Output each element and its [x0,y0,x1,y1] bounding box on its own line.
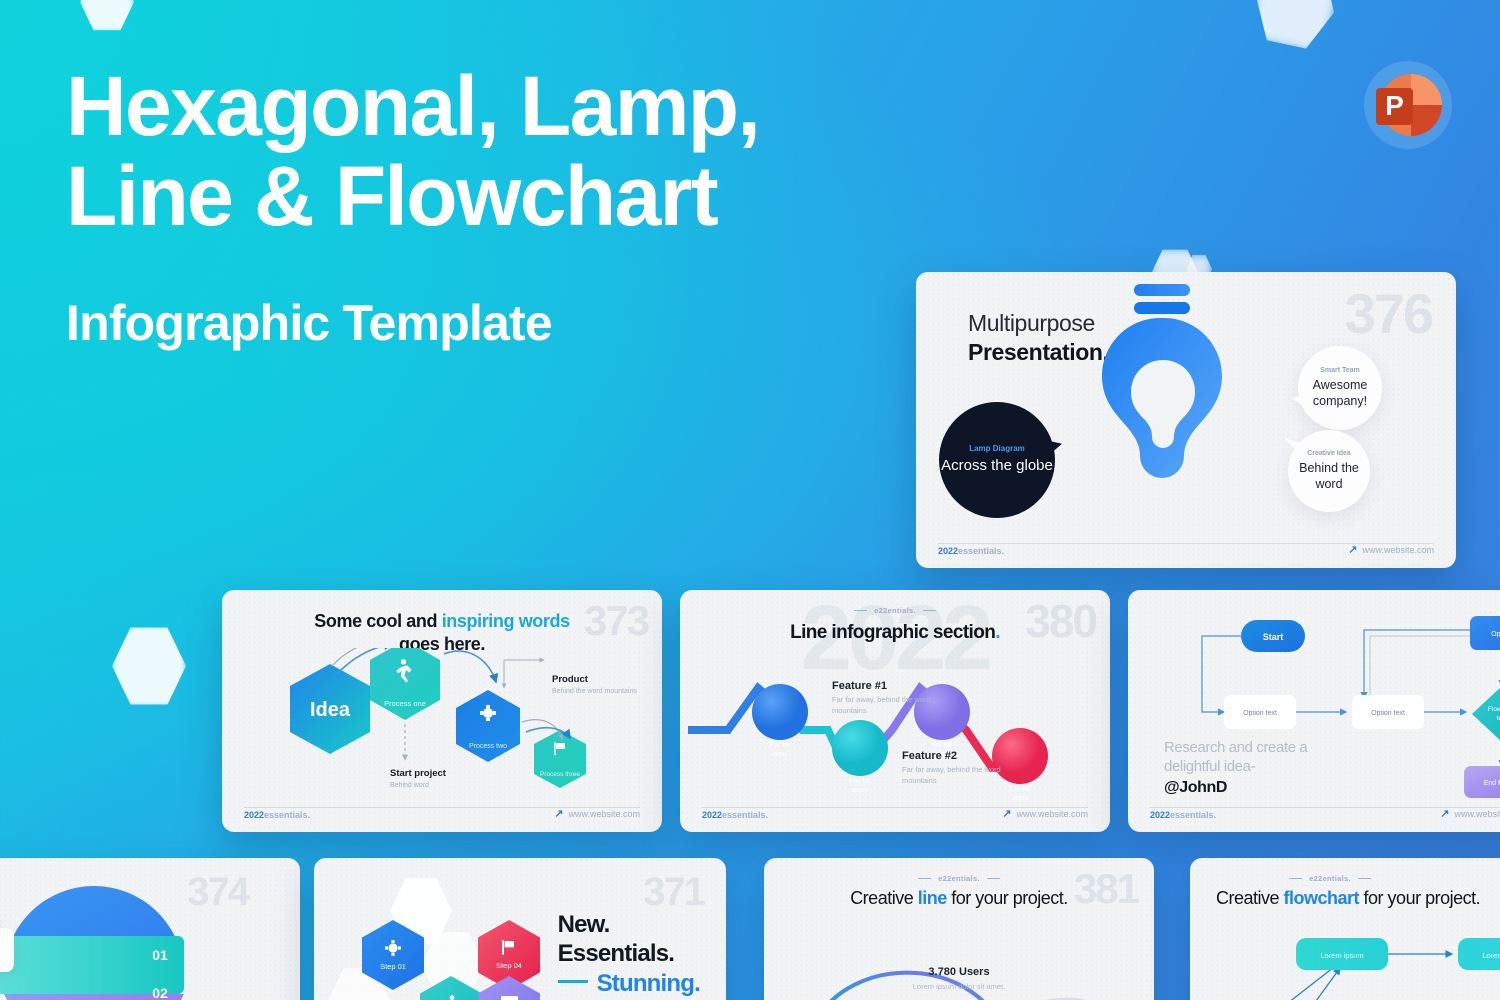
footer-year: 2022 [938,546,958,556]
slide-kicker: e22entials. [764,874,1154,883]
copy-rule [558,980,588,983]
slide-title: Creative line for your project. [764,888,1154,909]
kicker-label: e22entials. [938,874,980,883]
footer-brand: essentials. [958,546,1004,556]
footer-website-label: www.website.com [1362,545,1434,555]
slide-title: Creative flowchart for your project. [1216,888,1480,909]
slide-footer: 2022essentials. ↗www.website.com [1128,807,1500,832]
slide-number: 371 [643,872,704,912]
callout-title: Start project [390,768,446,779]
slide-title-main: Line infographic section [790,622,995,643]
footer-brand: essentials. [722,810,768,820]
arrow-up-right-icon: ↗ [1440,807,1449,820]
creative-flowchart-figure: Lorem ipsum Lorem ipsum Start Lorem ipsu… [1190,920,1500,1000]
bulb-layers-figure: 01 02 03 [0,858,300,1000]
flag-icon [502,940,516,955]
svg-text:Lorem ipsum: Lorem ipsum [1482,951,1500,960]
monitor-icon [501,996,518,1000]
circle-label-1: Far faraway [760,742,800,760]
svg-text:P: P [1385,90,1404,121]
slide-footer: 2022essentials. ↗www.website.com [222,807,662,832]
slide-title-p1: Creative [1216,888,1284,908]
slide-title-highlight: flowchart [1284,888,1360,908]
footer-brand: essentials. [264,810,310,820]
callout-sub: Behind the word mountains [552,687,637,696]
users-stat: 3.780 Users Lorem ipsum dolor sit amet. [913,966,1006,991]
headline-handle: @JohnD [1164,779,1307,797]
kicker-dash-right [923,610,936,612]
slide-kicker: e22entials. [1190,874,1470,883]
kicker-label: e22entials. [874,606,916,615]
lightbulb-icon [1086,274,1246,494]
step-hex-1[interactable]: Step 01 [362,920,424,990]
svg-text:Process three: Process three [540,771,580,778]
footer-year: 2022 [702,810,722,820]
layer-caption-1: Far far away, behind the word mountains. [0,928,14,972]
flowchart-headline: Research and create a delightful idea- @… [1164,738,1307,797]
svg-text:Process two: Process two [469,743,507,750]
users-count: 3.780 Users [913,966,1006,978]
slide-card-lamp-diagram[interactable]: 376 Multipurpose Presentation. Lamp Diag… [916,272,1456,568]
svg-text:Process one: Process one [384,699,426,708]
kicker-dash-left [1289,878,1302,880]
kicker-dash-left [918,878,931,880]
deco-hexagon-2 [112,625,186,707]
feature-sub: Far far away, behind the word mountains [902,765,1022,787]
gear-icon [385,940,401,956]
circle-label-4: Far faraway [1000,786,1040,804]
slide-title: Line infographic section. [680,622,1110,644]
footer-website-label: www.website.com [1016,809,1088,819]
svg-text:Option text: Option text [1371,710,1405,717]
callout-kicker: Lamp Diagram [969,444,1025,453]
kicker-dash-right [987,878,1000,880]
footer-divider [1150,807,1500,808]
footer-website[interactable]: ↗www.website.com [1348,543,1434,556]
footer-year: 2022 [1150,810,1170,820]
footer-year: 2022 [244,810,264,820]
slide-title-part1: Some cool and [314,611,441,631]
slide-card-steps[interactable]: 371 Step 01 Step 04 Step 02 Step 03 New.… [314,858,726,1000]
running-person-icon [444,995,459,1000]
steps-copy: New. Essentials. Stunning. [558,910,700,998]
slide-card-flowchart[interactable]: Start Option text Option text Option tex… [1128,590,1500,832]
callout-title: Product [552,674,637,685]
svg-text:Start: Start [1263,632,1284,642]
step-label: Step 04 [496,961,522,970]
kicker-dash-left [854,610,867,612]
footer-website[interactable]: ↗www.website.com [554,807,640,820]
slide-card-creative-line[interactable]: 381 e22entials. Creative line for your p… [764,858,1154,1000]
users-sub: Lorem ipsum dolor sit amet. [913,982,1006,991]
slide-number: 376 [1345,286,1432,342]
copy-line-1: New. [558,910,700,939]
page-title-line-1: Hexagonal, Lamp, [66,62,966,152]
hero-headline-block: Hexagonal, Lamp, Line & Flowchart Infogr… [66,62,966,352]
slide-card-bulb-layers[interactable]: 374 01 02 03 Far far away, behind the wo… [0,858,300,1000]
footer-divider [702,807,1088,808]
arrow-up-right-icon: ↗ [1348,543,1357,556]
footer-divider [938,543,1434,544]
arrow-up-right-icon: ↗ [1002,807,1011,820]
svg-text:Flowchart: Flowchart [1488,706,1500,713]
feature-2: Feature #2 Far far away, behind the word… [902,750,1022,787]
footer-website-label: www.website.com [568,809,640,819]
page-subtitle: Infographic Template [66,294,966,352]
callout-smart-team: Smart Team Awesome company! [1298,346,1382,430]
callout-sub: Behind word [390,781,446,790]
bubble-tail [1284,438,1306,460]
slide-title-highlight: inspiring words [442,611,570,631]
svg-text:02: 02 [152,985,168,1000]
slide-title-p2: for your project. [1359,888,1480,908]
headline-line-1: Research and create a [1164,738,1307,757]
slide-footer: 2022essentials. ↗www.website.com [680,807,1110,832]
callout-kicker: Smart Team [1320,367,1360,374]
svg-text:01: 01 [152,947,168,963]
footer-divider [244,807,640,808]
callout-product: Product Behind the word mountains [552,674,637,696]
feature-title: Feature #1 [832,680,952,692]
slide-title-dot: . [995,622,1000,643]
slide-footer: 2022essentials. ↗www.website.com [916,543,1456,568]
slide-card-creative-flowchart[interactable]: e22entials. Creative flowchart for your … [1190,858,1500,1000]
callout-start-project: Start project Behind word [390,768,446,790]
circle-label-2: Far faraway [840,778,880,796]
svg-text:End Flowchart: End Flowchart [1484,780,1500,787]
svg-text:Idea: Idea [310,699,351,721]
svg-text:Option text: Option text [1491,631,1500,638]
svg-text:Lorem ipsum: Lorem ipsum [1320,951,1363,960]
slide-card-line-infographic[interactable]: 2022 380 e22entials. Line infographic se… [680,590,1110,832]
page-title-line-2: Line & Flowchart [66,152,966,242]
step-hex-3[interactable]: Step 03 [478,976,540,1000]
callout-creative-idea: Creative Idea Behind the word [1288,430,1370,512]
slide-title-highlight: line [918,888,947,908]
feature-sub: Far far away, behind the word mountains [832,695,952,717]
headline-line-2: delightful idea- [1164,757,1307,776]
callout-text: Across the globe [941,457,1053,475]
feature-title: Feature #2 [902,750,1022,762]
callout-text: Behind the word [1288,460,1370,492]
footer-brand: essentials. [1170,810,1216,820]
copy-line-2: Essentials. [558,939,700,968]
callout-lamp-diagram: Lamp Diagram Across the globe [939,402,1055,518]
kicker-dash-right [1358,878,1371,880]
slide-card-hexagonal[interactable]: 373 Some cool and inspiring words goes h… [222,590,662,832]
feature-1: Feature #1 Far far away, behind the word… [832,680,952,717]
step-label: Step 01 [380,962,406,971]
deco-hexagon-4 [1247,0,1344,55]
slide-title-p1: Creative [850,888,918,908]
slide-title-p2: for your project. [947,888,1068,908]
callout-kicker: Creative Idea [1307,450,1351,457]
copy-line-3-label: Stunning. [597,970,700,997]
footer-website-label: www.website.com [1454,809,1500,819]
step-hex-2[interactable]: Step 02 [420,976,482,1000]
deco-hexagon-1 [80,0,134,32]
kicker-label: e22entials. [1309,874,1351,883]
footer-website[interactable]: ↗www.website.com [1440,807,1500,820]
slide-kicker: e22entials. [680,606,1110,615]
copy-line-3: Stunning. [558,969,700,998]
svg-text:Option text: Option text [1243,710,1277,717]
powerpoint-icon: P [1363,60,1453,150]
arrow-up-right-icon: ↗ [554,807,563,820]
footer-website[interactable]: ↗www.website.com [1002,807,1088,820]
